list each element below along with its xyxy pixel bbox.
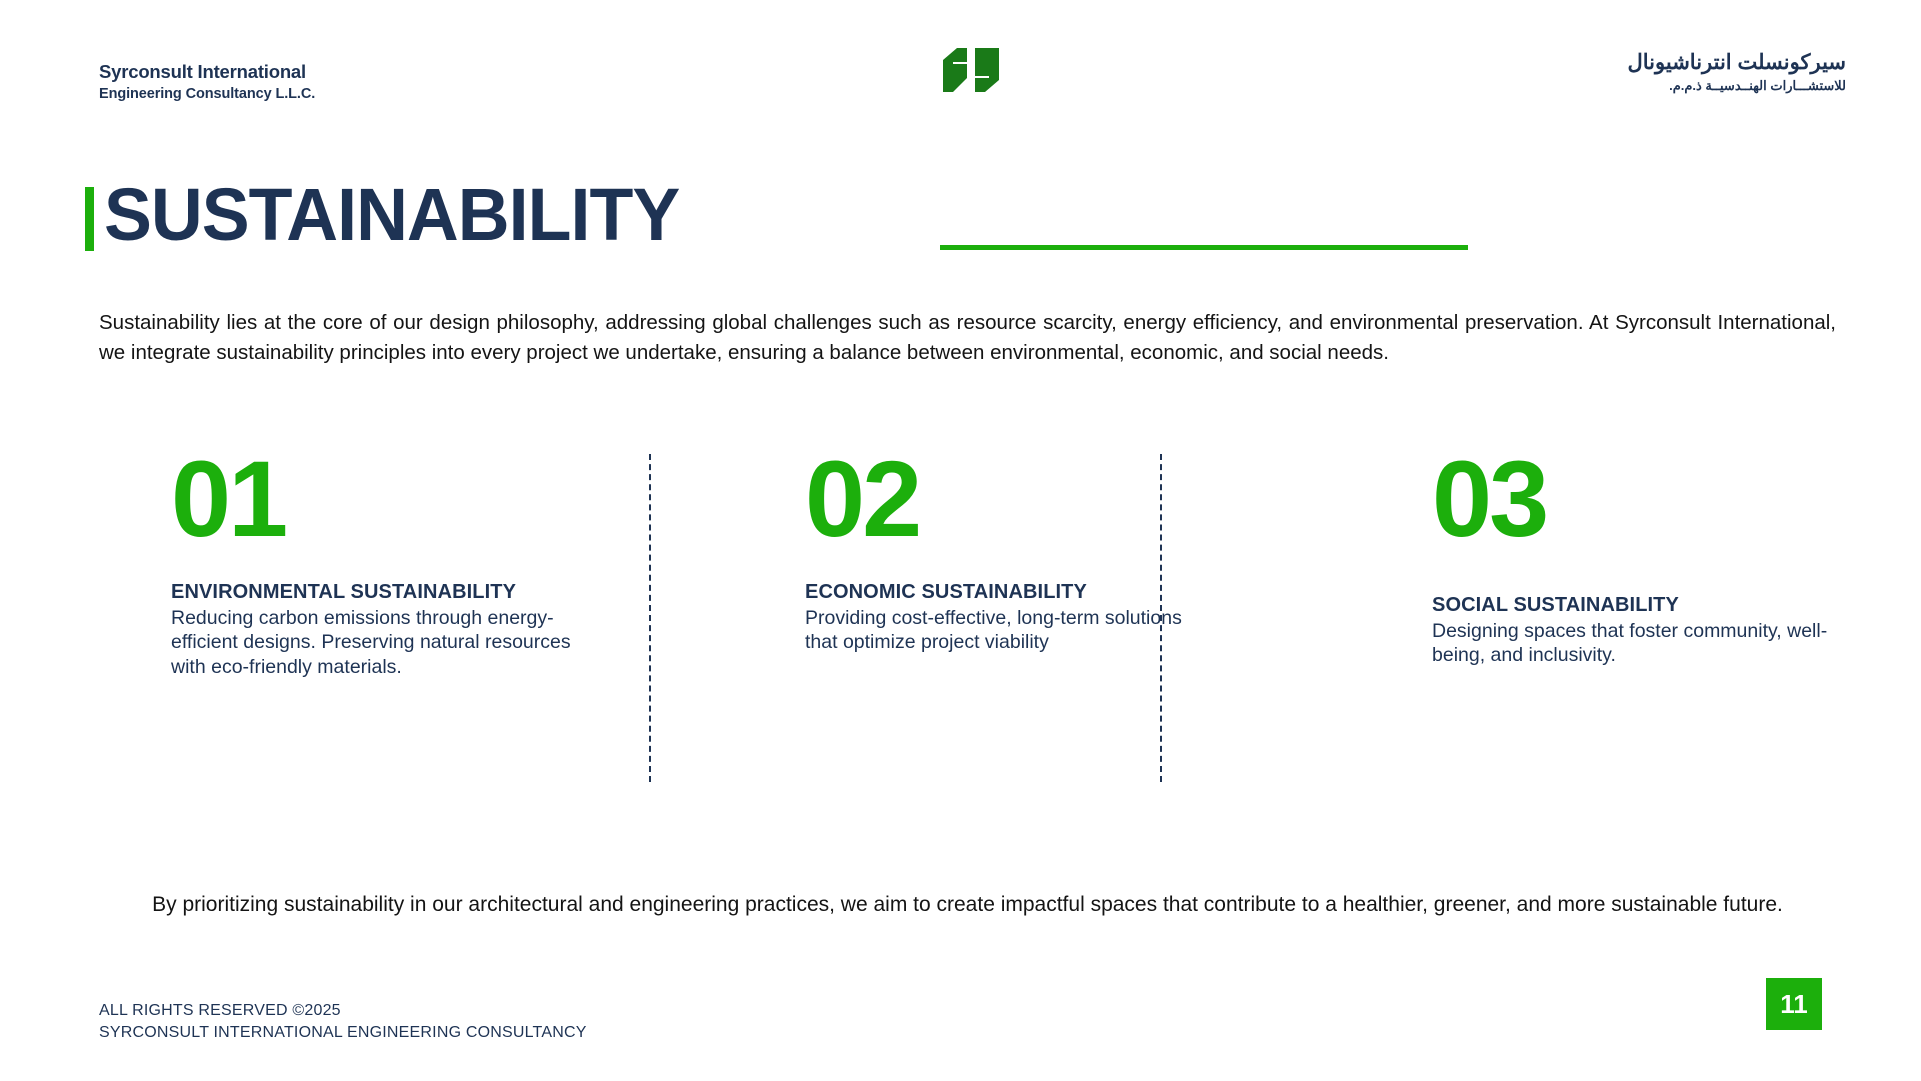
footer-company-line: SYRCONSULT INTERNATIONAL ENGINEERING CON… [99,1022,587,1044]
brand-english-subtitle: Engineering Consultancy L.L.C. [99,85,315,105]
pillar-body: Reducing carbon emissions through energy… [171,606,571,680]
brand-english: Syrconsult International Engineering Con… [99,60,315,104]
slide-header: Syrconsult International Engineering Con… [0,0,1921,118]
brand-english-name: Syrconsult International [99,60,315,84]
brand-arabic-name: سيركونسلت انترناشيونال [1628,50,1846,76]
pillar-card-social: 03 SOCIAL SUSTAINABILITY Designing space… [1432,448,1832,668]
title-accent-bar [85,187,94,251]
pillar-number: 02 [805,448,1205,550]
pillar-body: Designing spaces that foster community, … [1432,619,1832,668]
page-number-badge: 11 [1766,978,1822,1030]
brand-arabic: سيركونسلت انترناشيونال للاستشـــارات اله… [1628,50,1846,95]
footer-copyright: ALL RIGHTS RESERVED ©2025 SYRCONSULT INT… [99,1000,587,1044]
brand-arabic-subtitle: للاستشـــارات الهنــدسيــة ذ.م.م. [1628,78,1846,95]
column-divider-1 [649,454,651,782]
title-underline-rule [940,245,1468,250]
footer-rights-line: ALL RIGHTS RESERVED ©2025 [99,1000,587,1022]
pillar-card-environmental: 01 ENVIRONMENTAL SUSTAINABILITY Reducing… [171,448,571,679]
syrconsult-quote-mark-logo-icon [941,48,1003,92]
pillar-number: 03 [1432,448,1832,550]
pillar-heading: ENVIRONMENTAL SUSTAINABILITY [171,580,571,604]
pillar-body: Providing cost-effective, long-term solu… [805,606,1205,655]
page-title: SUSTAINABILITY [104,178,679,252]
intro-paragraph: Sustainability lies at the core of our d… [99,308,1836,367]
page-title-row: SUSTAINABILITY [85,178,1485,250]
pillar-card-economic: 02 ECONOMIC SUSTAINABILITY Providing cos… [805,448,1205,655]
sustainability-pillars: 01 ENVIRONMENTAL SUSTAINABILITY Reducing… [99,448,1839,788]
pillar-number: 01 [171,448,571,550]
pillar-heading: ECONOMIC SUSTAINABILITY [805,580,1205,604]
pillar-heading: SOCIAL SUSTAINABILITY [1432,593,1832,617]
closing-paragraph: By prioritizing sustainability in our ar… [99,890,1836,920]
